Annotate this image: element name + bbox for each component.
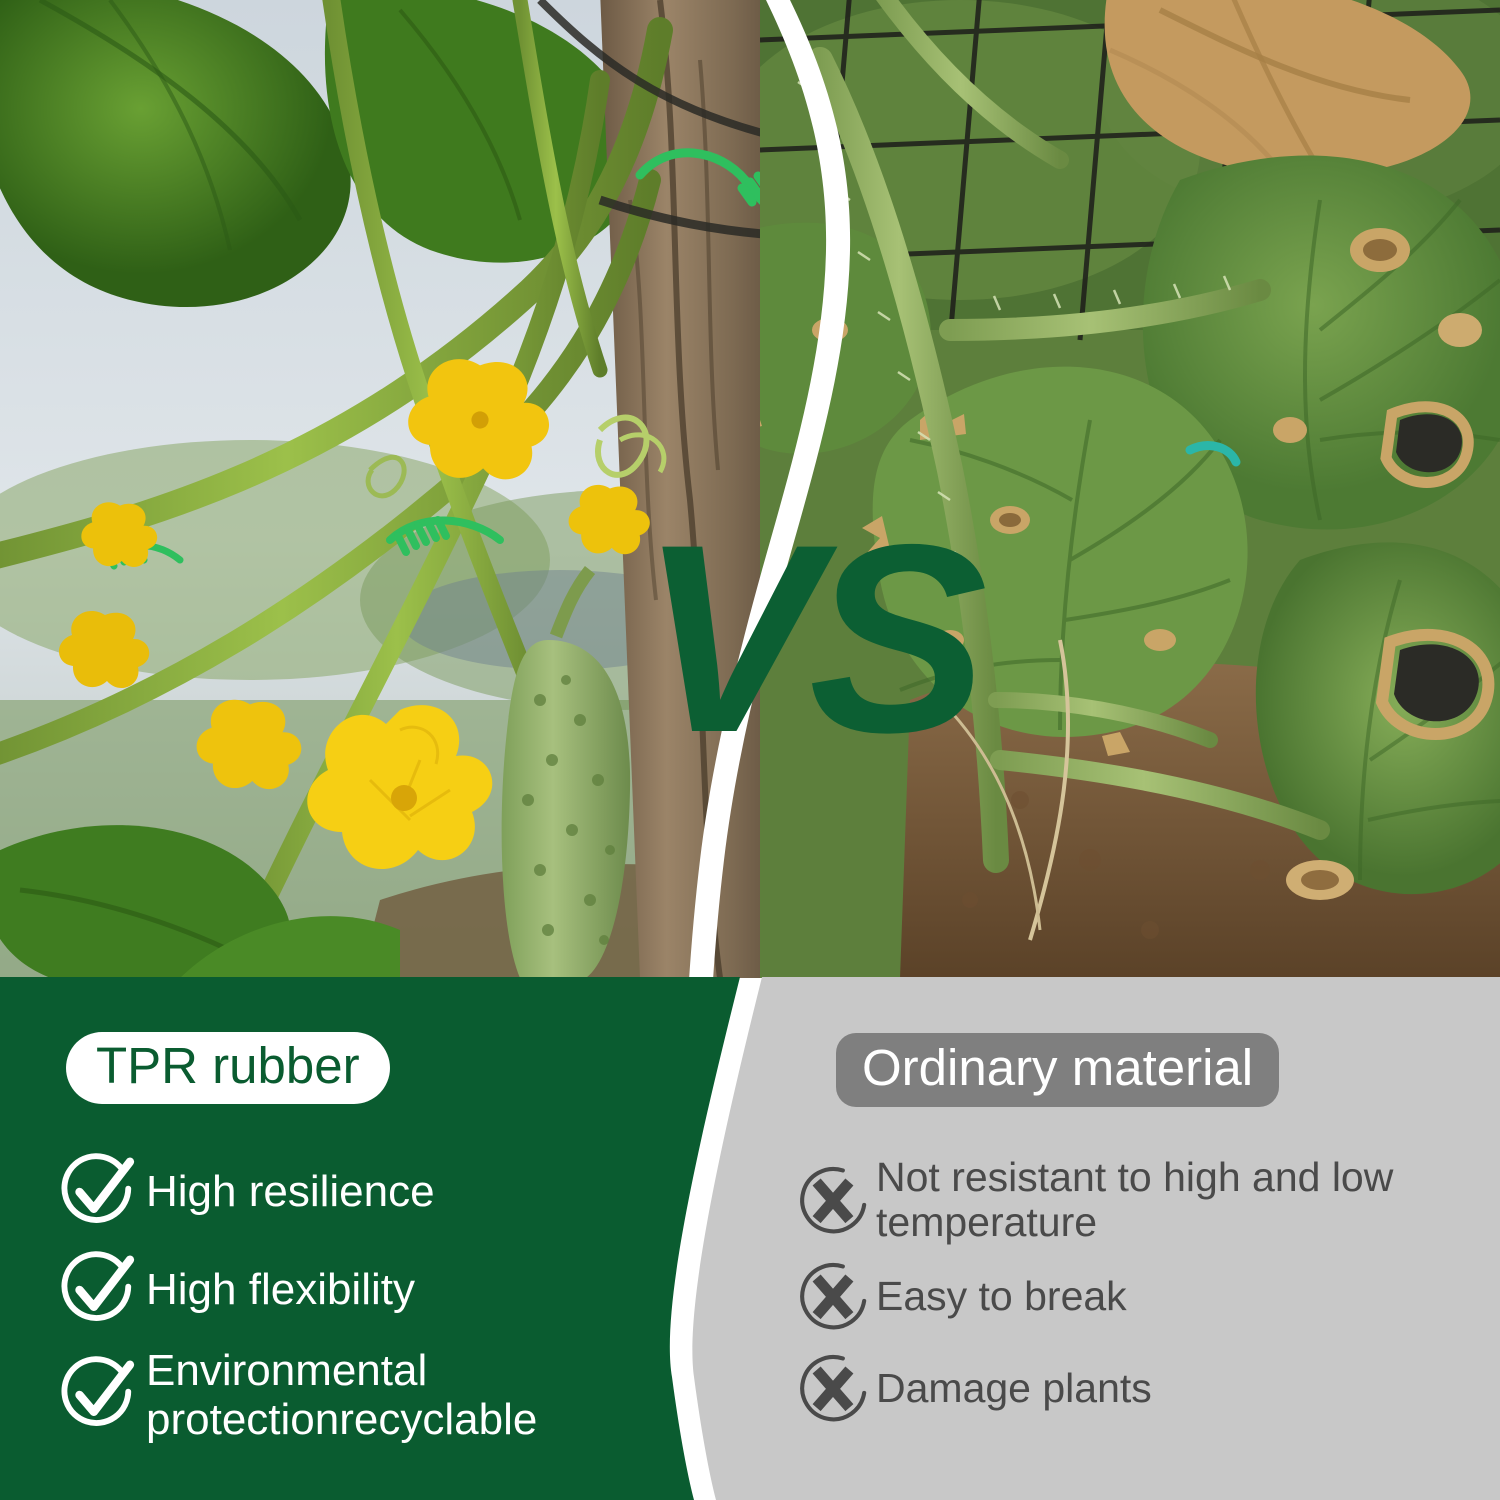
list-item: High flexibility <box>56 1248 696 1332</box>
list-item: Easy to break <box>792 1255 1492 1337</box>
list-item-label: Environmental protectionrecyclable <box>142 1346 696 1445</box>
check-circle-icon <box>56 1150 142 1234</box>
ordinary-material-drawback-list: Not resistant to high and low temperatur… <box>792 1155 1492 1439</box>
list-item-label: High resilience <box>142 1167 435 1216</box>
check-circle-icon <box>56 1248 142 1332</box>
comparison-infographic: VS TPR rubber High resilience <box>0 0 1500 1500</box>
tpr-rubber-feature-list: High resilience High flexibility <box>56 1150 696 1459</box>
tpr-rubber-panel: TPR rubber High resilience <box>0 977 700 1500</box>
tpr-rubber-badge: TPR rubber <box>66 1032 390 1104</box>
list-item: Not resistant to high and low temperatur… <box>792 1155 1492 1245</box>
list-item: Damage plants <box>792 1347 1492 1429</box>
list-item-label: Not resistant to high and low temperatur… <box>876 1155 1492 1245</box>
vs-label: VS <box>640 488 960 788</box>
x-circle-icon <box>792 1255 876 1337</box>
list-item: Environmental protectionrecyclable <box>56 1346 696 1445</box>
ordinary-material-badge: Ordinary material <box>836 1033 1279 1107</box>
list-item-label: High flexibility <box>142 1265 415 1314</box>
list-item: High resilience <box>56 1150 696 1234</box>
ordinary-material-panel: Ordinary material Not resistant to high … <box>760 977 1500 1500</box>
x-circle-icon <box>792 1347 876 1429</box>
x-circle-icon <box>792 1159 876 1241</box>
list-item-label: Easy to break <box>876 1274 1127 1319</box>
list-item-label: Damage plants <box>876 1366 1152 1411</box>
check-circle-icon <box>56 1353 142 1437</box>
